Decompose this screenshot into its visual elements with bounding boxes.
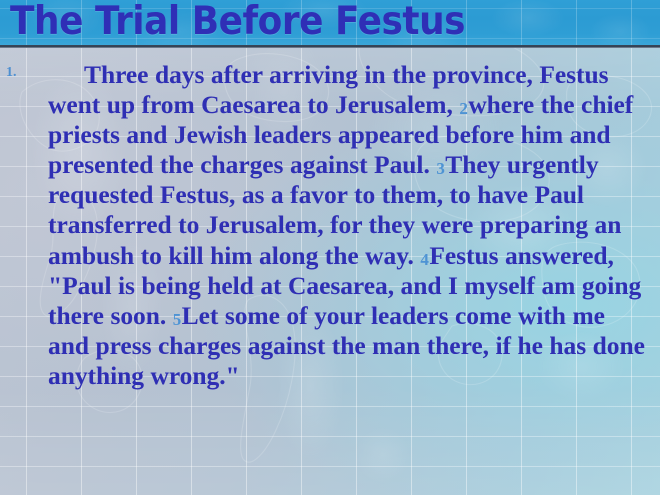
verse-number: 3 xyxy=(436,159,445,178)
slide-body: 1. Three days after arriving in the prov… xyxy=(0,60,660,391)
verse-number: 2 xyxy=(459,99,468,118)
list-item: 1. Three days after arriving in the prov… xyxy=(0,60,660,391)
title-banner: The Trial Before Festus xyxy=(0,0,660,45)
bullet-marker: 1. xyxy=(6,66,17,80)
verse-number: 4 xyxy=(420,250,429,269)
page-title: The Trial Before Festus xyxy=(10,0,465,45)
scripture-passage-text: Three days after arriving in the provinc… xyxy=(0,60,660,391)
slide-canvas: The Trial Before Festus 1. Three days af… xyxy=(0,0,660,495)
title-divider-rule xyxy=(0,45,660,48)
verse-number: 5 xyxy=(173,310,182,329)
